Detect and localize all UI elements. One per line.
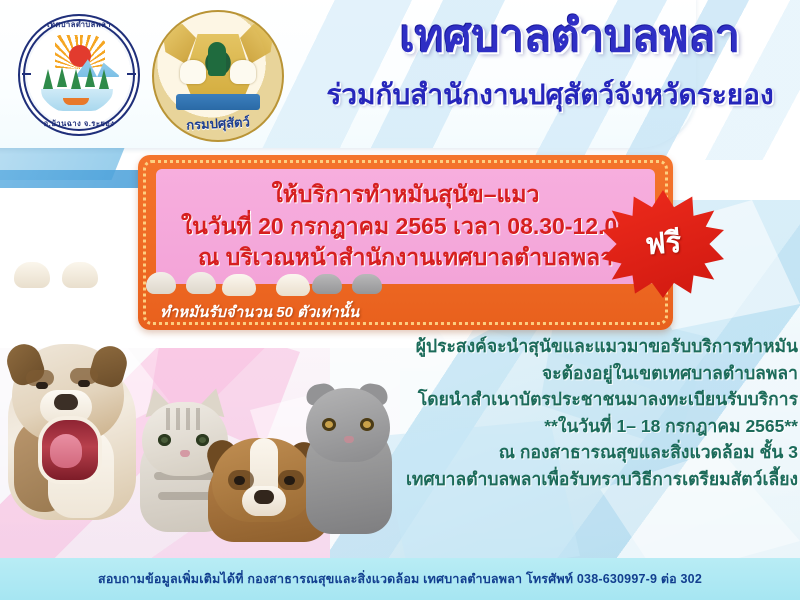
- page-title: เทศบาลตำบลพลา: [345, 14, 795, 60]
- details-line: ณ กองสาธารณสุขและสิ่งแวดล้อม ชั้น 3: [380, 439, 798, 466]
- details-line: ผู้ประสงค์จะนำสุนัขและแมวมาขอรับบริการทำ…: [380, 333, 798, 360]
- seal-horse-left-icon: [180, 60, 206, 84]
- municipal-seal-logo: เทศบาลตำบลพลา อ.บ้านฉาง จ.ระยอง: [18, 14, 140, 136]
- seal-tree-icon: [43, 69, 53, 89]
- details-text-block: ผู้ประสงค์จะนำสุนัขและแมวมาขอรับบริการทำ…: [380, 333, 800, 493]
- footer-bar: สอบถามข้อมูลเพิ่มเติมได้ที่ กองสาธารณสุข…: [0, 558, 800, 600]
- seal-tree-icon: [71, 69, 81, 89]
- seal-tree-icon: [57, 67, 67, 87]
- announcement-line-3: ณ บริเวณหน้าสำนักงานเทศบาลตำบลพลา: [198, 242, 613, 274]
- footer-contact-text: สอบถามข้อมูลเพิ่มเติมได้ที่ กองสาธารณสุข…: [98, 569, 702, 589]
- municipal-seal-top-text: เทศบาลตำบลพลา: [20, 19, 138, 31]
- pets-photo: [0, 330, 400, 570]
- details-line: จะต้องอยู่ในเขตเทศบาลตำบลพลา: [380, 360, 798, 387]
- municipal-seal-bottom-text: อ.บ้านฉาง จ.ระยอง: [20, 118, 138, 130]
- poster-canvas: เทศบาลตำบลพลา อ.บ้านฉาง จ.ระยอง กรมปศุสั…: [0, 0, 800, 600]
- details-line: เทศบาลตำบลพลาเพื่อรับทราบวิธีการเตรียมสั…: [380, 466, 798, 493]
- seal-tree-icon: [99, 69, 109, 89]
- announcement-line-1: ให้บริการทำหมันสุนัข–แมว: [272, 179, 540, 211]
- announcement-line-2: ในวันที่ 20 กรกฎาคม 2565 เวลา 08.30-12.0…: [181, 211, 630, 243]
- seal-boat-icon: [63, 98, 89, 105]
- seal-horse-right-icon: [230, 60, 256, 84]
- seal-scroll-banner: [176, 94, 260, 110]
- page-subtitle: ร่วมกับสำนักงานปศุสัตว์จังหวัดระยอง: [300, 80, 800, 111]
- seal-tree-icon: [85, 67, 95, 87]
- details-line: **ในวันที่ 1– 18 กรกฎาคม 2565**: [380, 413, 798, 440]
- announcement-quota-note: ทำหมันรับจำนวน 50 ตัวเท่านั้น: [160, 300, 359, 324]
- livestock-seal-logo: กรมปศุสัตว์: [152, 10, 284, 142]
- details-line: โดยนำสำเนาบัตรประชาชนมาลงทะเบียนรับบริกา…: [380, 386, 798, 413]
- announcement-box: ให้บริการทำหมันสุนัข–แมว ในวันที่ 20 กรก…: [138, 155, 673, 330]
- announcement-pink-panel: ให้บริการทำหมันสุนัข–แมว ในวันที่ 20 กรก…: [156, 169, 655, 284]
- municipal-seal-scene: [35, 31, 119, 115]
- free-badge-label: ฟรี: [643, 219, 682, 267]
- seal-deity-icon: [208, 42, 226, 76]
- seal-tick-left: [22, 73, 31, 75]
- seal-tick-right: [127, 73, 136, 75]
